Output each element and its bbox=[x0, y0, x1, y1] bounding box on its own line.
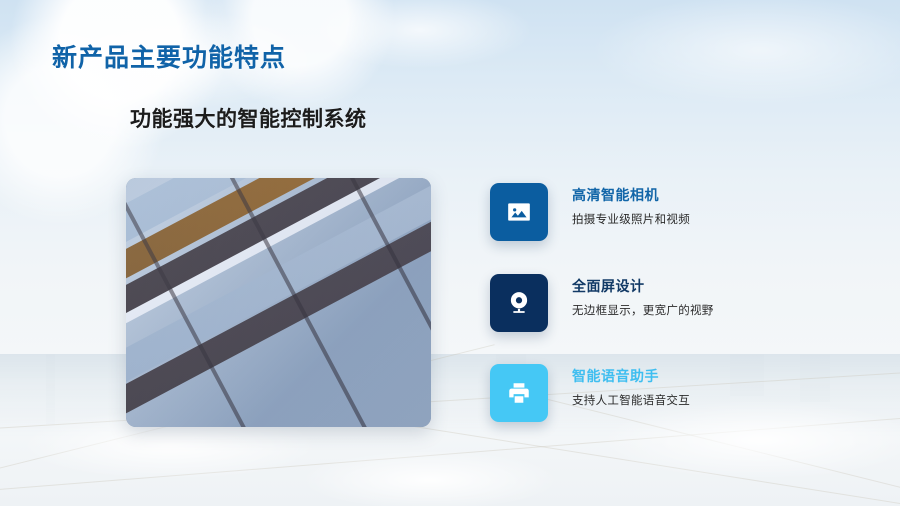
feature-desc: 无边框显示，更宽广的视野 bbox=[572, 304, 714, 319]
feature-icon-box bbox=[490, 183, 548, 241]
webcam-icon bbox=[506, 290, 532, 316]
feature-title: 高清智能相机 bbox=[572, 187, 690, 204]
image-icon bbox=[506, 199, 532, 225]
floor-highlight-mid bbox=[300, 450, 560, 506]
cloud-layer bbox=[0, 0, 900, 200]
feature-title: 全面屏设计 bbox=[572, 278, 714, 295]
building-photo bbox=[126, 178, 431, 427]
photo-overlay bbox=[126, 178, 431, 427]
page-title: 新产品主要功能特点 bbox=[52, 38, 286, 74]
feature-desc: 支持人工智能语音交互 bbox=[572, 394, 690, 409]
printer-icon bbox=[506, 380, 532, 406]
feature-text: 全面屏设计 无边框显示，更宽广的视野 bbox=[572, 274, 714, 319]
slide-subtitle: 功能强大的智能控制系统 bbox=[130, 103, 367, 133]
feature-item-voice[interactable]: 智能语音助手 支持人工智能语音交互 bbox=[490, 364, 690, 422]
feature-icon-box bbox=[490, 274, 548, 332]
feature-title: 智能语音助手 bbox=[572, 368, 690, 385]
feature-text: 高清智能相机 拍摄专业级照片和视频 bbox=[572, 183, 690, 228]
feature-item-camera[interactable]: 高清智能相机 拍摄专业级照片和视频 bbox=[490, 183, 690, 241]
feature-desc: 拍摄专业级照片和视频 bbox=[572, 213, 690, 228]
feature-text: 智能语音助手 支持人工智能语音交互 bbox=[572, 364, 690, 409]
feature-item-display[interactable]: 全面屏设计 无边框显示，更宽广的视野 bbox=[490, 274, 714, 332]
feature-icon-box bbox=[490, 364, 548, 422]
